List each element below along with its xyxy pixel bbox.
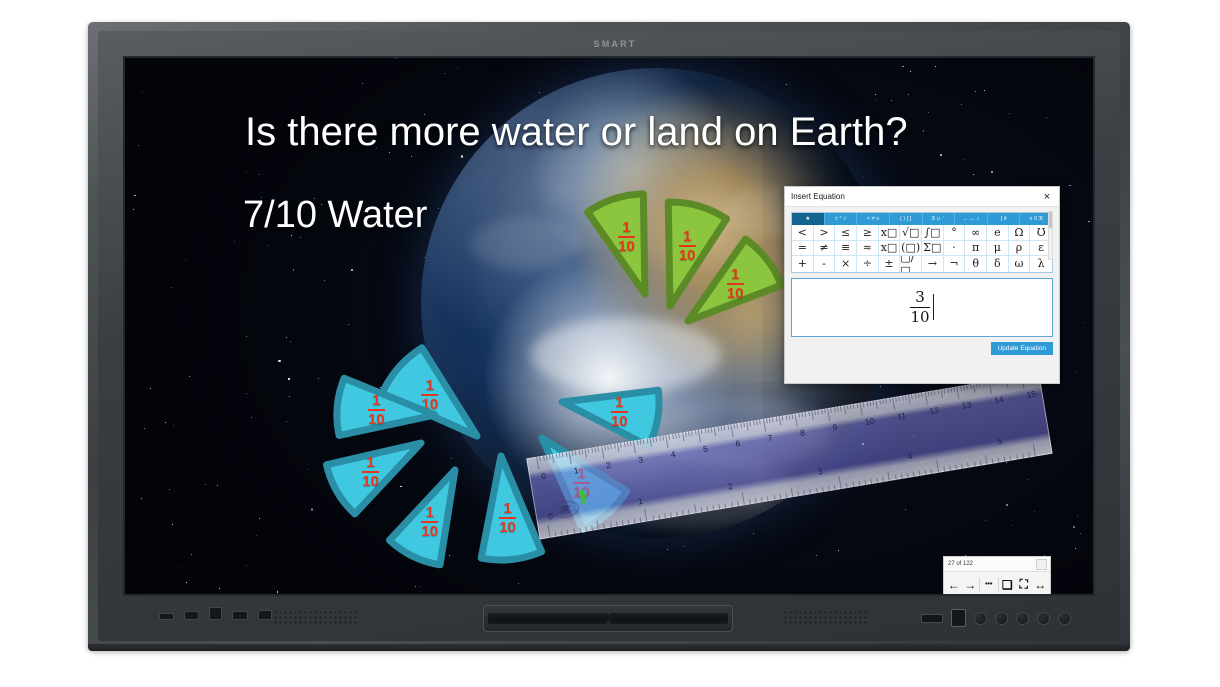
symbol-cell-18[interactable]: (□) — [900, 241, 922, 257]
symbol-cell-15[interactable]: ≡ — [835, 241, 857, 257]
expand-toolbar-icon[interactable]: ↔ — [1033, 575, 1049, 595]
symbol-cell-5[interactable]: x□ — [879, 225, 901, 241]
symbol-cell-30[interactable]: □/□ — [900, 256, 922, 272]
symbol-cell-33[interactable]: θ — [965, 256, 987, 272]
insert-equation-dialog[interactable]: Insert Equation × ★± ° √< ≠ ≡( ) [ ]∃ ∪ … — [784, 186, 1060, 384]
symbol-tab-7[interactable]: ∫ ∂ — [988, 213, 1021, 225]
ruler-cm-label: 0 — [541, 471, 547, 482]
page-counter: 27 of 122 — [944, 561, 1036, 567]
equation-numerator: 3 — [910, 290, 929, 305]
page-counter-row: 27 of 122 — [944, 557, 1050, 572]
symbol-cell-22[interactable]: μ — [987, 241, 1009, 257]
symbol-cell-17[interactable]: x□ — [879, 241, 901, 257]
close-icon[interactable]: × — [1037, 187, 1057, 206]
equation-denominator: 10 — [910, 310, 929, 325]
ruler-cm-label: 12 — [929, 405, 940, 416]
symbol-cell-8[interactable]: ° — [944, 225, 966, 241]
ruler-cm-label: 11 — [896, 410, 906, 421]
symbol-cell-19[interactable]: Σ□ — [922, 241, 944, 257]
port-cluster[interactable] — [159, 607, 272, 620]
symbol-cell-23[interactable]: ρ — [1009, 241, 1031, 257]
ruler-cm-label: 1 — [573, 465, 579, 476]
ruler-cm-label: 5 — [702, 444, 708, 455]
usb-b-port — [209, 607, 222, 620]
symbol-cell-10[interactable]: e — [987, 225, 1009, 241]
screen-view-icon[interactable]: ⛶ — [1016, 575, 1032, 595]
symbol-cell-4[interactable]: ≥ — [857, 225, 879, 241]
power-port — [159, 613, 174, 620]
symbol-cell-6[interactable]: √□ — [900, 225, 922, 241]
screenshot-root: SMART 110110110110110110110110110110 012… — [0, 0, 1220, 687]
symbol-cell-7[interactable]: ∫□ — [922, 225, 944, 241]
power-button[interactable] — [1058, 612, 1071, 625]
update-equation-button[interactable]: Update Equation — [991, 342, 1053, 355]
symbol-cell-31[interactable]: → — [922, 256, 944, 272]
palette-scroll-thumb[interactable] — [1049, 212, 1052, 228]
symbol-cell-20[interactable]: · — [944, 241, 966, 257]
symbol-tab-2[interactable]: ± ° √ — [825, 213, 858, 225]
display-screen: 110110110110110110110110110110 012345678… — [123, 56, 1095, 596]
hdmi-port — [232, 611, 248, 620]
dialog-body: ★± ° √< ≠ ≡( ) [ ]∃ ∪ ∴→ ↔ ↕∫ ∂¤ 0 ℜ <>≤… — [785, 207, 1059, 361]
aux-port[interactable] — [921, 614, 943, 623]
vga-port — [258, 610, 272, 620]
symbol-tab-4[interactable]: ( ) [ ] — [890, 213, 923, 225]
symbol-cell-16[interactable]: ≈ — [857, 241, 879, 257]
text-caret — [933, 294, 934, 320]
ruler-cm-label: 10 — [864, 416, 875, 427]
speaker-grille-right — [783, 610, 869, 626]
speaker-grille-left — [273, 610, 359, 626]
symbol-cell-14[interactable]: ≠ — [814, 241, 836, 257]
down-button[interactable] — [995, 612, 1008, 625]
ruler-cm-label: 6 — [735, 438, 741, 449]
symbol-cell-13[interactable]: = — [792, 241, 814, 257]
toolbar-collapse-box[interactable] — [1036, 559, 1047, 570]
symbol-cell-27[interactable]: × — [835, 256, 857, 272]
ruler-cm-label: 15 — [1026, 389, 1037, 400]
control-button-row[interactable] — [921, 609, 1071, 627]
stylus-pen-left[interactable] — [488, 613, 607, 624]
symbol-cell-21[interactable]: π — [965, 241, 987, 257]
symbol-cell-9[interactable]: ∞ — [965, 225, 987, 241]
equation-fraction: 3 10 — [910, 290, 929, 325]
symbol-cell-2[interactable]: > — [814, 225, 836, 241]
dialog-titlebar[interactable]: Insert Equation × — [785, 187, 1059, 207]
page-title: Is there more water or land on Earth? — [245, 110, 908, 155]
ruler-cm-label: 14 — [993, 394, 1004, 405]
pen-tray[interactable] — [483, 605, 733, 632]
previous-page-icon[interactable]: ← — [946, 575, 962, 595]
next-page-icon[interactable]: → — [963, 575, 979, 595]
page-view-icon[interactable]: ❑ — [1000, 575, 1016, 595]
volume-button[interactable] — [1037, 612, 1050, 625]
page-navigation-toolbar[interactable]: 27 of 122 ←→•••❑⛶↔ — [943, 556, 1051, 596]
equation-preview-canvas[interactable]: 3 10 — [791, 278, 1053, 337]
symbol-tab-3[interactable]: < ≠ ≡ — [857, 213, 890, 225]
more-options-icon[interactable]: ••• — [981, 575, 997, 595]
menu-button[interactable] — [974, 612, 987, 625]
bottom-bezel — [123, 601, 1095, 643]
dialog-title: Insert Equation — [785, 192, 845, 201]
toolbar-icon-row[interactable]: ←→•••❑⛶↔ — [944, 572, 1050, 596]
slide-subtitle: 7/10 Water — [243, 194, 427, 237]
symbol-tab-5[interactable]: ∃ ∪ ∴ — [923, 213, 956, 225]
symbol-tab-1[interactable]: ★ — [792, 213, 825, 225]
symbol-tab-6[interactable]: → ↔ ↕ — [955, 213, 988, 225]
display-base — [88, 644, 1130, 651]
input-button[interactable] — [951, 609, 966, 627]
stylus-pen-right[interactable] — [610, 613, 729, 624]
symbol-cell-25[interactable]: + — [792, 256, 814, 272]
up-button[interactable] — [1016, 612, 1029, 625]
toolbar-separator — [998, 578, 999, 592]
palette-scrollbar[interactable] — [1048, 211, 1053, 260]
symbol-cell-32[interactable]: ¬ — [944, 256, 966, 272]
symbol-cell-29[interactable]: ± — [879, 256, 901, 272]
smart-brand-logo: SMART — [560, 36, 670, 52]
symbol-palette: ★± ° √< ≠ ≡( ) [ ]∃ ∪ ∴→ ↔ ↕∫ ∂¤ 0 ℜ <>≤… — [791, 212, 1053, 273]
toolbar-separator — [979, 578, 980, 592]
symbol-cell-28[interactable]: ÷ — [857, 256, 879, 272]
symbol-grid[interactable]: <>≤≥x□√□∫□°∞eΩƱ=≠≡≈x□(□)Σ□·πμρε+-×÷±□/□→… — [792, 225, 1052, 272]
symbol-cell-1[interactable]: < — [792, 225, 814, 241]
usb-port — [184, 611, 199, 620]
symbol-cell-35[interactable]: ω — [1009, 256, 1031, 272]
symbol-cell-26[interactable]: - — [814, 256, 836, 272]
ruler-cm-label: 13 — [961, 399, 972, 410]
symbol-cell-3[interactable]: ≤ — [835, 225, 857, 241]
symbol-category-tabs[interactable]: ★± ° √< ≠ ≡( ) [ ]∃ ∪ ∴→ ↔ ↕∫ ∂¤ 0 ℜ — [792, 213, 1052, 225]
dialog-footer: Update Equation — [791, 342, 1053, 355]
symbol-cell-11[interactable]: Ω — [1009, 225, 1031, 241]
symbol-cell-34[interactable]: δ — [987, 256, 1009, 272]
